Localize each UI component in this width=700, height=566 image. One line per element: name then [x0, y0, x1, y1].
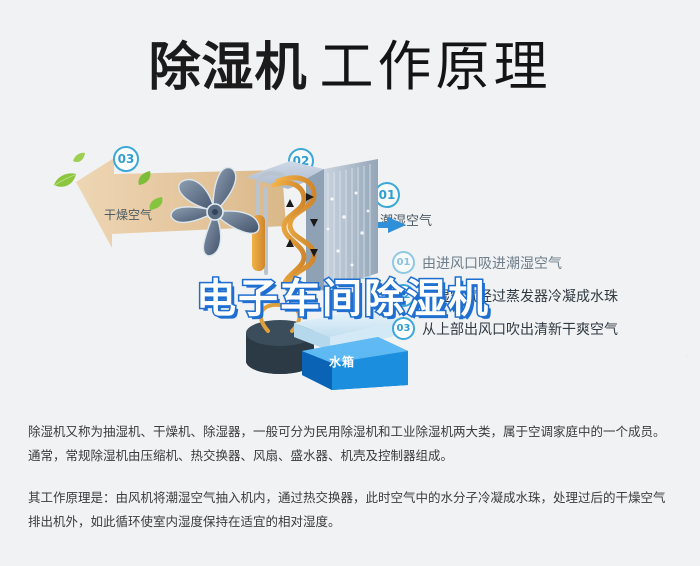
leaf-icon — [137, 170, 152, 186]
body-paragraph-1: 除湿机又称为抽湿机、干燥机、除湿器，一般可分为民用除湿机和工业除湿机两大类，属于… — [28, 420, 676, 468]
badge-dry-air: 03 — [113, 146, 139, 172]
leaf-icon — [72, 152, 86, 164]
body-paragraph-2-text: 其工作原理是：由风机将潮湿空气抽入机内，通过热交换器，此时空气中的水分子冷凝成水… — [28, 486, 676, 534]
infographic-page: 除湿机工作原理 — [0, 0, 700, 566]
page-title-part2: 工作原理 — [320, 37, 552, 97]
page-title-part1: 除湿机 — [148, 38, 307, 98]
body-paragraph-2: 其工作原理是：由风机将潮湿空气抽入机内，通过热交换器，此时空气中的水分子冷凝成水… — [28, 486, 676, 534]
overlay-watermark-title: 电子车间除湿机 — [196, 266, 490, 324]
label-dry-air: 干燥空气 — [104, 206, 152, 223]
fan-illustration — [162, 162, 268, 262]
page-title: 除湿机工作原理 — [0, 22, 700, 101]
label-water-tank: 水箱 — [329, 353, 355, 370]
body-paragraph-1-text: 除湿机又称为抽湿机、干燥机、除湿器，一般可分为民用除湿机和工业除湿机两大类，属于… — [28, 420, 676, 468]
leaf-icon — [52, 172, 78, 190]
